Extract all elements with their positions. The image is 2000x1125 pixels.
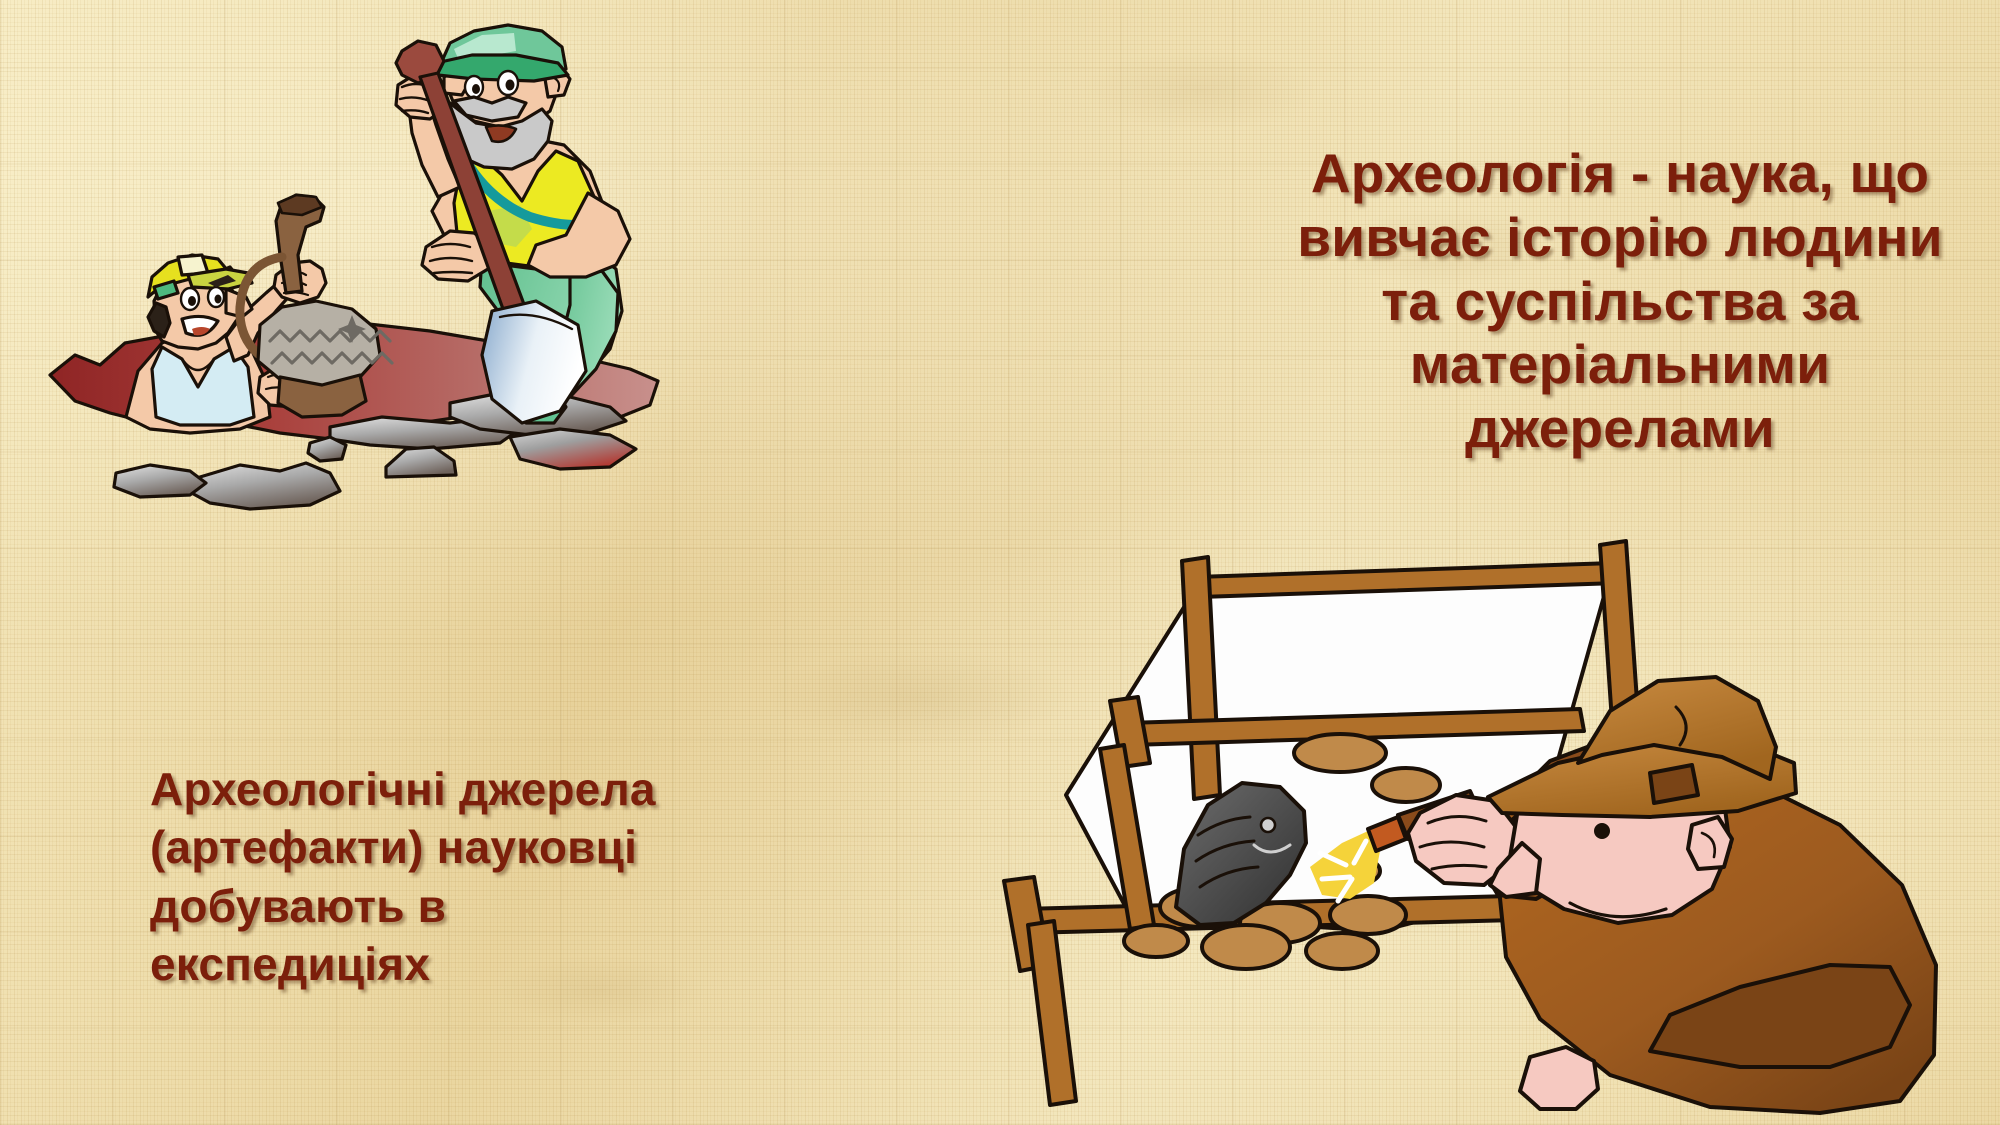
rock-pebble: [308, 437, 346, 461]
diggers-drawing: [30, 25, 710, 515]
definition-text: Археологія - наука, що вивчає історію лю…: [1255, 142, 1985, 461]
artifact-eye: [1261, 818, 1275, 832]
young-pupil-left: [188, 296, 196, 306]
illustration-two-archaeologists-digging: [30, 25, 710, 515]
definition-line-2: вивчає історію людини: [1255, 206, 1985, 270]
definition-line-4: матеріальними: [1255, 333, 1985, 397]
sources-text: Археологічні джерела (артефакти) науковц…: [150, 760, 790, 994]
rock-dome: [386, 447, 456, 477]
sources-line-2: (артефакти) науковці: [150, 818, 790, 876]
rock-slab-4: [188, 463, 340, 509]
slide-canvas: Археологія - наука, що вивчає історію лю…: [0, 0, 2000, 1125]
pebble: [1294, 734, 1386, 772]
pebble: [1330, 896, 1406, 934]
pebble: [1202, 925, 1290, 969]
frame-leg-left: [1028, 921, 1076, 1105]
young-pupil-right: [215, 295, 222, 304]
definition-line-1: Археологія - наука, що: [1255, 142, 1985, 206]
pebble: [1306, 933, 1378, 969]
brushing-drawing: [950, 495, 1960, 1115]
illustration-archaeologist-brushing-artifact: [950, 495, 1960, 1115]
rock-slab-3: [510, 429, 636, 469]
bearded-pupil-left: [472, 84, 480, 94]
pebble: [1124, 925, 1188, 957]
pebble: [1372, 768, 1440, 802]
hand-support: [1520, 1047, 1598, 1109]
eye: [1594, 823, 1610, 839]
young-hair: [148, 303, 170, 337]
sources-line-4: експедиціях: [150, 935, 790, 993]
sources-line-1: Археологічні джерела: [150, 760, 790, 818]
sources-line-3: добувають в: [150, 877, 790, 935]
amphora-body: [258, 301, 380, 387]
hat-band: [1650, 765, 1698, 803]
rock-slab-5: [114, 465, 206, 497]
definition-line-5: джерелами: [1255, 397, 1985, 461]
definition-line-3: та суспільства за: [1255, 270, 1985, 334]
bearded-pupil-right: [506, 80, 515, 91]
